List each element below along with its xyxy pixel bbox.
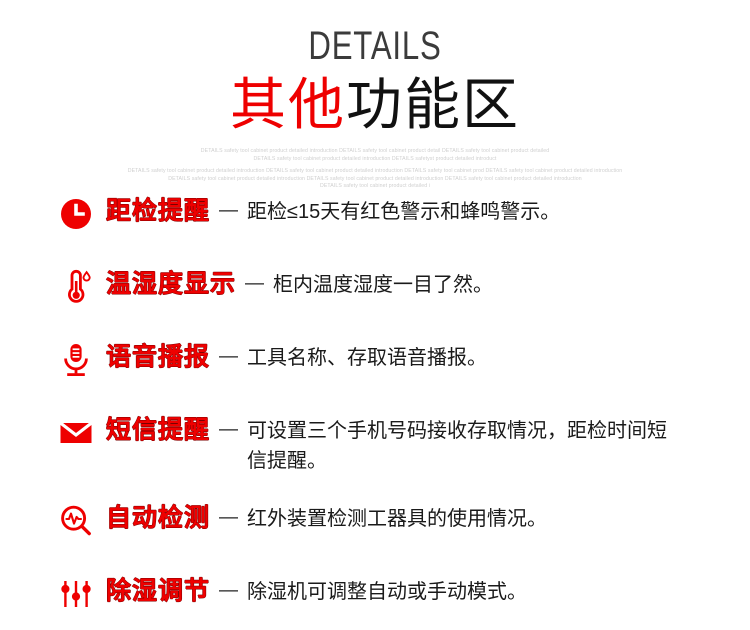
feature-body: 除湿调节 — 除湿机可调整自动或手动模式。: [96, 572, 527, 610]
feature-body: 温湿度显示 — 柜内温度湿度一目了然。: [96, 265, 493, 303]
feature-description: 可设置三个手机号码接收存取情况，距检时间短信提醒。: [247, 411, 667, 476]
feature-description: 红外装置检测工器具的使用情况。: [247, 499, 547, 534]
filler-line-1: DETAILS safety tool cabinet product deta…: [105, 148, 645, 156]
filler-line-5: DETAILS safety tool cabinet product deta…: [105, 183, 645, 191]
feature-dash: —: [210, 572, 247, 610]
feature-title: 语音播报: [106, 338, 210, 376]
feature-dash: —: [210, 411, 247, 449]
feature-row: 语音播报 — 工具名称、存取语音播报。: [0, 338, 750, 396]
feature-description: 除湿机可调整自动或手动模式。: [247, 572, 527, 607]
page-title-en: DETAILS: [83, 24, 668, 68]
feature-desc-line-1: 可设置三个手机号码接收存取情况，距检时间短: [247, 420, 667, 442]
page-title-cn: 其他功能区: [0, 74, 750, 136]
thermometer-humidity-icon: [56, 267, 96, 307]
filler-text-block: DETAILS safety tool cabinet product deta…: [105, 148, 645, 191]
feature-body: 自动检测 — 红外装置检测工器具的使用情况。: [96, 499, 547, 537]
feature-title: 短信提醒: [106, 411, 210, 449]
feature-desc-line-2: 信提醒。: [247, 446, 667, 476]
feature-description: 柜内温度湿度一目了然。: [273, 265, 493, 300]
feature-desc-line-1: 柜内温度湿度一目了然。: [273, 274, 493, 296]
feature-row: 短信提醒 — 可设置三个手机号码接收存取情况，距检时间短信提醒。: [0, 411, 750, 476]
page-header: DETAILS 其他功能区: [0, 0, 750, 136]
filler-line-2: DETAILS safety tool cabinet product deta…: [105, 156, 645, 164]
feature-title: 除湿调节: [106, 572, 210, 610]
feature-title: 距检提醒: [106, 192, 210, 230]
filler-line-4: DETAILS safety tool cabinet product deta…: [55, 176, 695, 184]
feature-title: 自动检测: [106, 499, 210, 537]
sliders-icon: [56, 574, 96, 614]
feature-desc-line-1: 红外装置检测工器具的使用情况。: [247, 508, 547, 530]
page-title-cn-highlight: 其他: [230, 73, 346, 136]
feature-description: 工具名称、存取语音播报。: [247, 338, 487, 373]
filler-line-3: DETAILS safety tool cabinet product deta…: [55, 168, 695, 176]
feature-desc-line-1: 除湿机可调整自动或手动模式。: [247, 581, 527, 603]
feature-desc-line-1: 工具名称、存取语音播报。: [247, 347, 487, 369]
feature-desc-line-1: 距检≤15天有红色警示和蜂鸣警示。: [247, 201, 560, 223]
feature-description: 距检≤15天有红色警示和蜂鸣警示。: [247, 192, 560, 227]
microphone-icon: [56, 340, 96, 380]
envelope-icon: [56, 413, 96, 453]
feature-dash: —: [210, 499, 247, 537]
clock-icon: [56, 194, 96, 234]
feature-row: 自动检测 — 红外装置检测工器具的使用情况。: [0, 499, 750, 557]
feature-dash: —: [236, 265, 273, 303]
feature-body: 短信提醒 — 可设置三个手机号码接收存取情况，距检时间短信提醒。: [96, 411, 667, 476]
feature-list: 距检提醒 — 距检≤15天有红色警示和蜂鸣警示。 温湿度显示 — 柜内温度湿度一…: [0, 192, 750, 630]
feature-row: 除湿调节 — 除湿机可调整自动或手动模式。: [0, 572, 750, 630]
feature-body: 语音播报 — 工具名称、存取语音播报。: [96, 338, 487, 376]
feature-dash: —: [210, 338, 247, 376]
feature-body: 距检提醒 — 距检≤15天有红色警示和蜂鸣警示。: [96, 192, 560, 230]
feature-dash: —: [210, 192, 247, 230]
feature-title: 温湿度显示: [106, 265, 236, 303]
search-pulse-icon: [56, 501, 96, 541]
feature-row: 距检提醒 — 距检≤15天有红色警示和蜂鸣警示。: [0, 192, 750, 250]
page-title-cn-rest: 功能区: [346, 73, 520, 136]
feature-row: 温湿度显示 — 柜内温度湿度一目了然。: [0, 265, 750, 323]
